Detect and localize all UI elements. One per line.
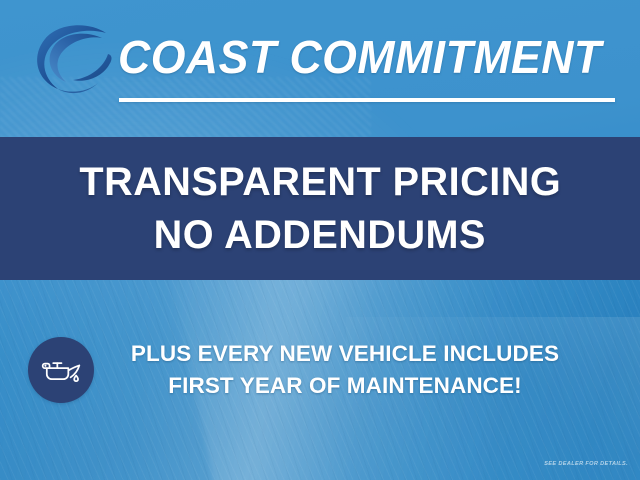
disclaimer-text: SEE DEALER FOR DETAILS. [544, 461, 628, 467]
oil-can-icon [28, 337, 94, 403]
promo-row: PLUS EVERY NEW VEHICLE INCLUDES FIRST YE… [0, 325, 640, 415]
promo-line-1: PLUS EVERY NEW VEHICLE INCLUDES [94, 338, 596, 370]
highlight-band: TRANSPARENT PRICING NO ADDENDUMS [0, 137, 640, 280]
promo-line-2: FIRST YEAR OF MAINTENANCE! [94, 370, 596, 402]
coast-commitment-banner: COAST COMMITMENT TRANSPARENT PRICING NO … [0, 0, 640, 480]
highlight-line-1: TRANSPARENT PRICING [79, 156, 561, 209]
highlight-line-2: NO ADDENDUMS [154, 209, 486, 262]
banner-header: COAST COMMITMENT [0, 0, 640, 137]
coast-wave-logo-icon [28, 20, 118, 98]
page-title: COAST COMMITMENT [118, 22, 603, 92]
header-divider [119, 98, 615, 102]
promo-text: PLUS EVERY NEW VEHICLE INCLUDES FIRST YE… [94, 338, 640, 402]
